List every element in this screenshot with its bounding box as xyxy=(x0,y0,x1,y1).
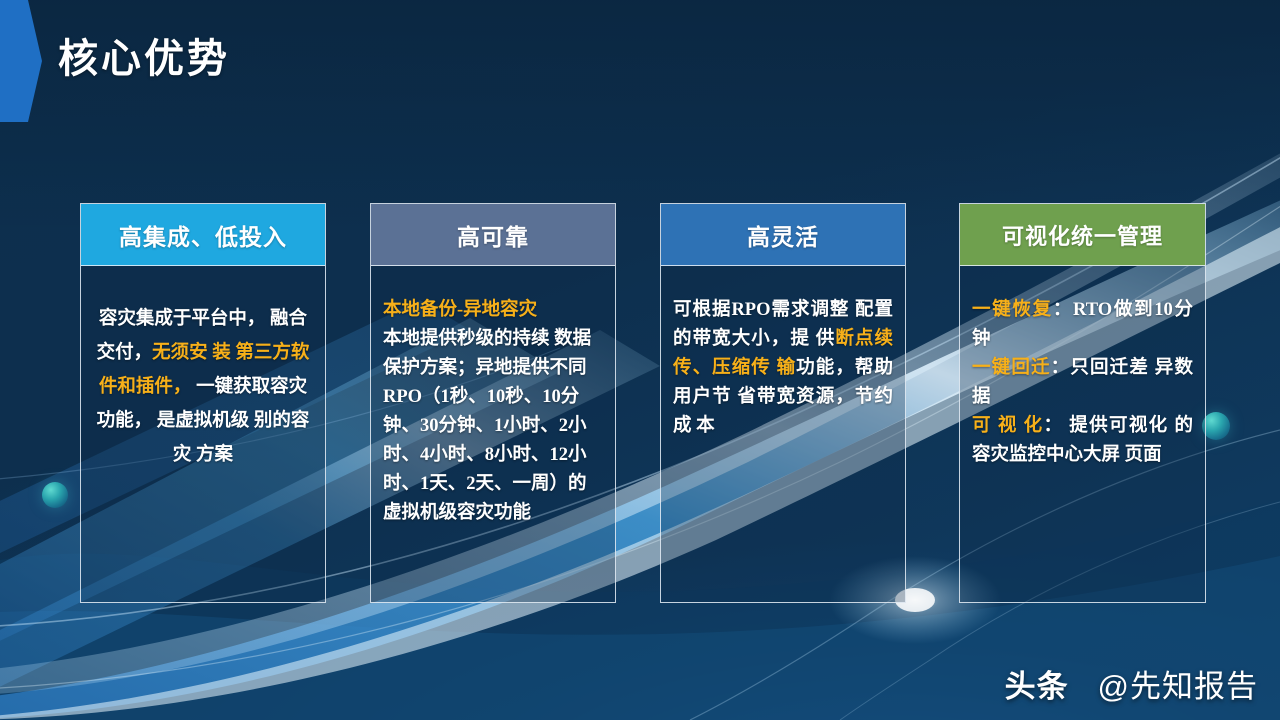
card-title: 高灵活 xyxy=(661,204,905,266)
highlighted-text: 可 视 化 xyxy=(972,416,1043,436)
advantage-card-high-flexibility: 高灵活 可根据RPO需求调整 配置的带宽大小，提 供断点续传、压缩传 输功能，帮… xyxy=(660,203,906,603)
decorative-sphere-right xyxy=(1202,412,1230,440)
highlighted-text: 一键回迁 xyxy=(972,358,1051,378)
card-title: 高集成、低投入 xyxy=(81,204,325,266)
page-title: 核心优势 xyxy=(58,26,230,84)
slide-canvas: 核心优势 核心优势 高集成、低投入 容灾集成于平台中， 融合交付，无须安 装 第… xyxy=(0,0,1280,720)
card-title: 可视化统一管理 xyxy=(960,204,1205,266)
advantage-card-visualized-management: 可视化统一管理 一键恢复：RTO做到10分钟一键回迁：只回迁差 异数据可 视 化… xyxy=(959,203,1206,603)
body-text: 本地提供秒级的持续 数据保护方案；异地提供不同RPO（1秒、10秒、10分钟、3… xyxy=(383,329,591,523)
card-body: 一键恢复：RTO做到10分钟一键回迁：只回迁差 异数据可 视 化： 提供可视化 … xyxy=(960,266,1205,602)
decorative-sphere-left xyxy=(42,482,68,508)
watermark-brand: 头条 xyxy=(1005,669,1069,704)
card-body: 本地备份-异地容灾本地提供秒级的持续 数据保护方案；异地提供不同RPO（1秒、1… xyxy=(371,266,615,602)
card-body: 可根据RPO需求调整 配置的带宽大小，提 供断点续传、压缩传 输功能，帮助用户节… xyxy=(661,266,905,602)
highlighted-text: 本地备份-异地容灾 xyxy=(383,300,537,320)
card-body: 容灾集成于平台中， 融合交付，无须安 装 第三方软件和插件， 一键获取容灾功能，… xyxy=(81,266,325,602)
advantage-card-high-integration: 高集成、低投入 容灾集成于平台中， 融合交付，无须安 装 第三方软件和插件， 一… xyxy=(80,203,326,603)
advantage-card-high-reliability: 高可靠 本地备份-异地容灾本地提供秒级的持续 数据保护方案；异地提供不同RPO（… xyxy=(370,203,616,603)
watermark-handle: @先知报告 xyxy=(1098,669,1258,704)
highlighted-text: 一键恢复 xyxy=(972,300,1053,320)
card-title: 高可靠 xyxy=(371,204,615,266)
watermark: 头条 @先知报告 xyxy=(1005,661,1258,706)
